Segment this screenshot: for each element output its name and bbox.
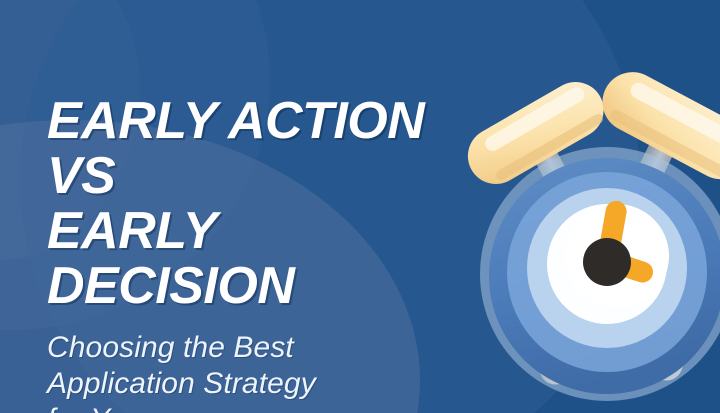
clock-center-pivot — [583, 238, 631, 286]
banner-text-block: EARLY ACTION VS EARLY DECISION Choosing … — [47, 94, 477, 413]
banner-subheadline: Choosing the Best Application Strategy f… — [47, 330, 477, 413]
promo-banner: EARLY ACTION VS EARLY DECISION Choosing … — [0, 0, 720, 413]
banner-headline: EARLY ACTION VS EARLY DECISION — [47, 94, 477, 314]
alarm-clock-illustration — [470, 72, 720, 413]
